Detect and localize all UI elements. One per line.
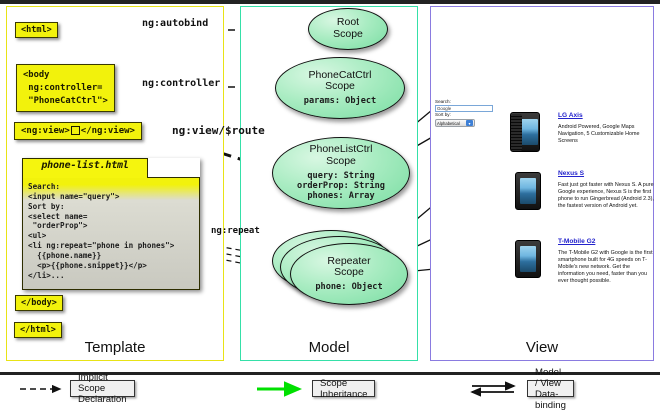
ngview-element: <ng:view></ng:view>	[14, 122, 142, 140]
column-label-model: Model	[241, 339, 417, 356]
double-arrow-icon	[470, 380, 525, 397]
scope-repeater: Repeater Scope phone: Object	[290, 243, 408, 305]
html-close-tag: </html>	[14, 322, 62, 338]
dashed-arrow-icon	[18, 380, 68, 397]
column-label-template: Template	[7, 339, 223, 356]
phone-thumbnail-3	[515, 240, 541, 278]
label-ng-autobind: ng:autobind	[142, 18, 208, 29]
green-arrow-icon	[255, 380, 310, 397]
ngview-open-tag: <ng:view>	[21, 126, 70, 136]
scope-phonelistctrl: PhoneListCtrl Scope query: String orderP…	[272, 137, 410, 209]
phone-name-1[interactable]: LG Axis	[558, 112, 583, 119]
sort-select[interactable]: Alphabetical ▾	[435, 119, 475, 127]
body-close-tag: </body>	[15, 295, 63, 311]
phone-name-3[interactable]: T-Mobile G2	[558, 238, 595, 245]
scope-root-name: Root Scope	[333, 17, 363, 41]
search-widget: Search: Google Sort by: Alphabetical ▾	[435, 99, 497, 127]
scope-repeater-name: Repeater Scope	[327, 256, 370, 280]
scope-repeater-props: phone: Object	[315, 282, 382, 292]
diagram-canvas: Template Model View <html> <body ng:cont…	[0, 0, 660, 405]
phone-thumbnail-1	[510, 112, 540, 152]
scope-phonecatctrl-props: params: Object	[304, 96, 376, 106]
legend-label-inheritance: Scope Inheritance	[312, 380, 375, 397]
legend-label-implicit: Implicit Scope Declaration	[70, 380, 135, 397]
label-ng-controller: ng:controller	[142, 78, 220, 89]
label-ng-repeat: ng:repeat	[211, 226, 260, 236]
phone-thumbnail-2	[515, 172, 541, 210]
html-open-tag: <html>	[15, 22, 58, 38]
chevron-down-icon: ▾	[466, 120, 473, 127]
scope-root: Root Scope	[308, 8, 388, 50]
search-input[interactable]: Google	[435, 105, 493, 112]
phone-description-3: The T-Mobile G2 with Google is the first…	[558, 250, 654, 285]
note-title: phone-list.html	[22, 160, 148, 171]
phone-name-2[interactable]: Nexus S	[558, 170, 584, 177]
empty-box-glyph-icon	[71, 126, 80, 135]
legend-label-databinding: Model / View Data-binding	[527, 380, 574, 397]
phone-list-note: Search: <input name="query"> Sort by: <s…	[22, 158, 200, 290]
ngview-close-tag: </ng:view>	[81, 126, 135, 136]
phone-description-1: Android Powered, Google Maps Navigation,…	[558, 124, 654, 145]
phone-description-2: Fast just got faster with Nexus S. A pur…	[558, 182, 654, 210]
body-open-tag: <body ng:controller= "PhoneCatCtrl">	[16, 64, 115, 112]
scope-phonecatctrl: PhoneCatCtrl Scope params: Object	[275, 57, 405, 119]
column-label-view: View	[431, 339, 653, 356]
scope-phonelistctrl-props: query: String orderProp: String phones: …	[297, 171, 385, 202]
label-ng-view-route: ng:view/$route	[172, 124, 265, 137]
legend: Implicit Scope Declaration Scope Inherit…	[0, 372, 660, 405]
note-code: Search: <input name="query"> Sort by: <s…	[22, 177, 200, 290]
scope-phonelistctrl-name: PhoneListCtrl Scope	[309, 144, 372, 168]
sort-select-value: Alphabetical	[437, 121, 460, 126]
sort-label: Sort by:	[435, 112, 497, 118]
scope-phonecatctrl-name: PhoneCatCtrl Scope	[308, 70, 371, 94]
